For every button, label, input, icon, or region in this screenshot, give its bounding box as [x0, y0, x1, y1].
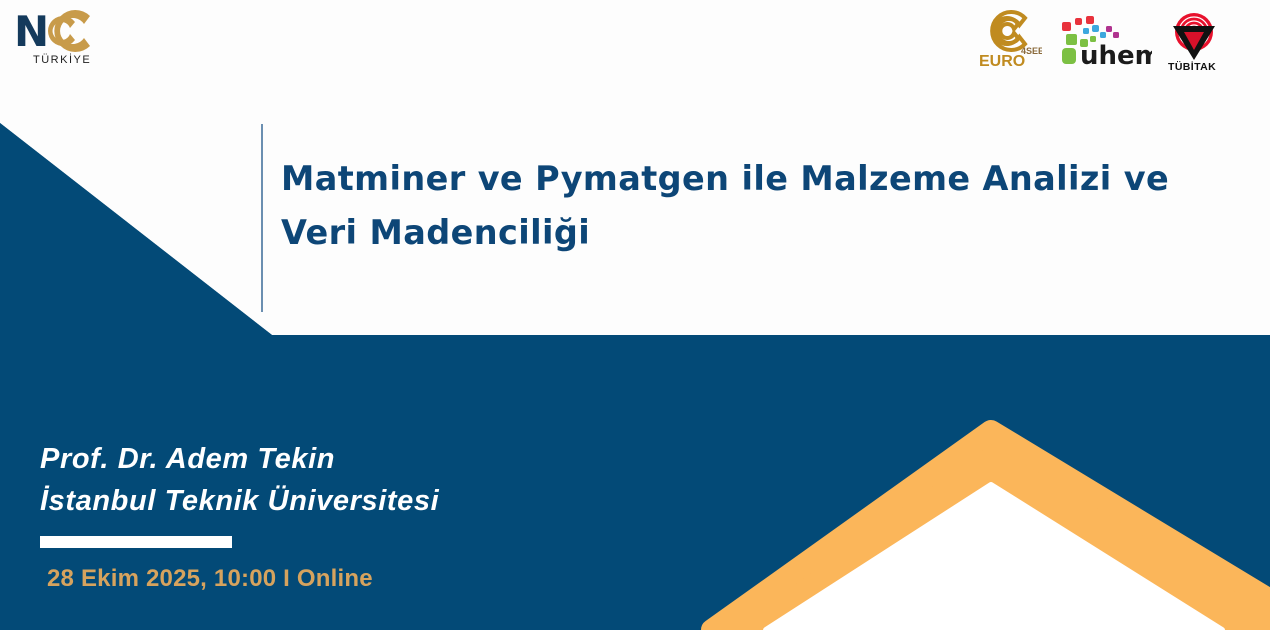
speaker-affiliation: İstanbul Teknik Üniversitesi: [40, 480, 439, 522]
ncc-inner-c-icon: [48, 16, 75, 46]
page-title: Matminer ve Pymatgen ile Malzeme Analizi…: [281, 152, 1181, 261]
event-datetime-location: 28 Ekim 2025, 10:00 I Online: [47, 565, 373, 593]
white-divider-bar: [40, 536, 232, 548]
euro-superscript: 4SEE: [1021, 46, 1042, 56]
tubitak-logo: TÜBİTAK: [1166, 8, 1222, 72]
speaker-name: Prof. Dr. Adem Tekin: [40, 438, 439, 480]
ncc-turkiye-logo: N TÜRKİYE: [12, 6, 104, 68]
title-line-2: Veri Madenciliği: [281, 206, 1181, 260]
tubitak-wordmark: TÜBİTAK: [1168, 60, 1216, 72]
webinar-poster: N TÜRKİYE EURO 4SEE: [0, 0, 1270, 630]
uhem-logo-mark: uhem: [1056, 14, 1152, 72]
tubitak-logo-mark: TÜBİTAK: [1166, 8, 1222, 72]
title-line-1: Matminer ve Pymatgen ile Malzeme Analizi…: [281, 152, 1181, 206]
ncc-logo-mark: N TÜRKİYE: [12, 6, 104, 68]
uhem-logo: uhem: [1056, 14, 1152, 72]
partner-logo-row: EURO 4SEE: [978, 8, 1222, 72]
ncc-subtitle: TÜRKİYE: [33, 53, 91, 66]
uhem-wordmark: uhem: [1080, 41, 1152, 71]
euro-4see-logo: EURO 4SEE: [978, 10, 1042, 72]
euro-logo-mark: EURO 4SEE: [978, 10, 1042, 72]
ncc-n-letter: N: [14, 7, 49, 56]
poster-header: N TÜRKİYE EURO 4SEE: [0, 0, 1270, 84]
euro-wordmark: EURO: [979, 53, 1025, 70]
speaker-block: Prof. Dr. Adem Tekin İstanbul Teknik Üni…: [40, 438, 439, 522]
title-vertical-rule: [261, 124, 263, 312]
ncc-outer-c-icon: [54, 10, 90, 52]
